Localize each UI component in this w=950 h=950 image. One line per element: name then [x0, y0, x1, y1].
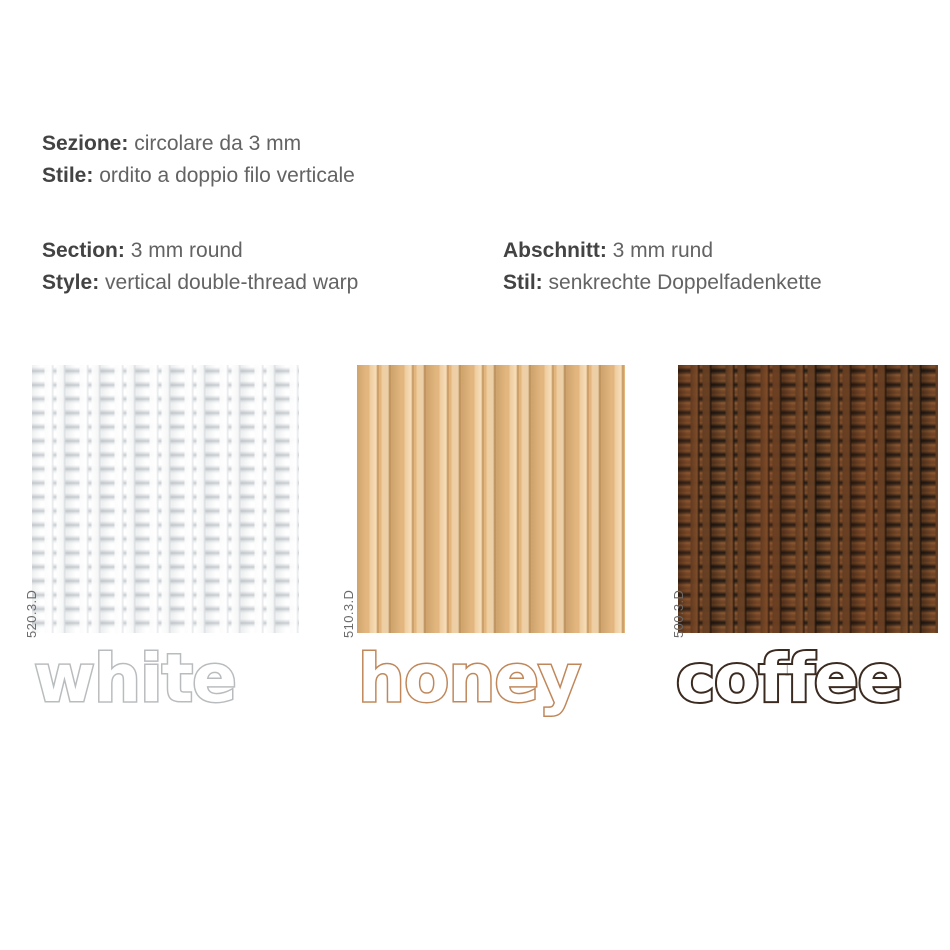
product-code-coffee: 500.3.D: [671, 590, 686, 638]
weave-texture-coffee: [678, 365, 938, 633]
swatch-honey[interactable]: [357, 365, 625, 633]
product-code-honey: 510.3.D: [341, 590, 356, 638]
swatch-gallery: [0, 0, 950, 950]
weave-shading-layer: [678, 365, 938, 633]
swatch-white[interactable]: [32, 365, 299, 633]
color-name-honey: honey: [358, 640, 580, 717]
weave-shading-layer: [357, 365, 625, 633]
product-code-white: 520.3.D: [24, 590, 39, 638]
color-name-white: white: [34, 640, 236, 717]
weave-texture-white: [32, 365, 299, 633]
weave-shading-layer: [32, 365, 299, 633]
swatch-coffee[interactable]: [678, 365, 938, 633]
color-name-coffee: coffee: [676, 640, 901, 717]
weave-texture-honey: [357, 365, 625, 633]
